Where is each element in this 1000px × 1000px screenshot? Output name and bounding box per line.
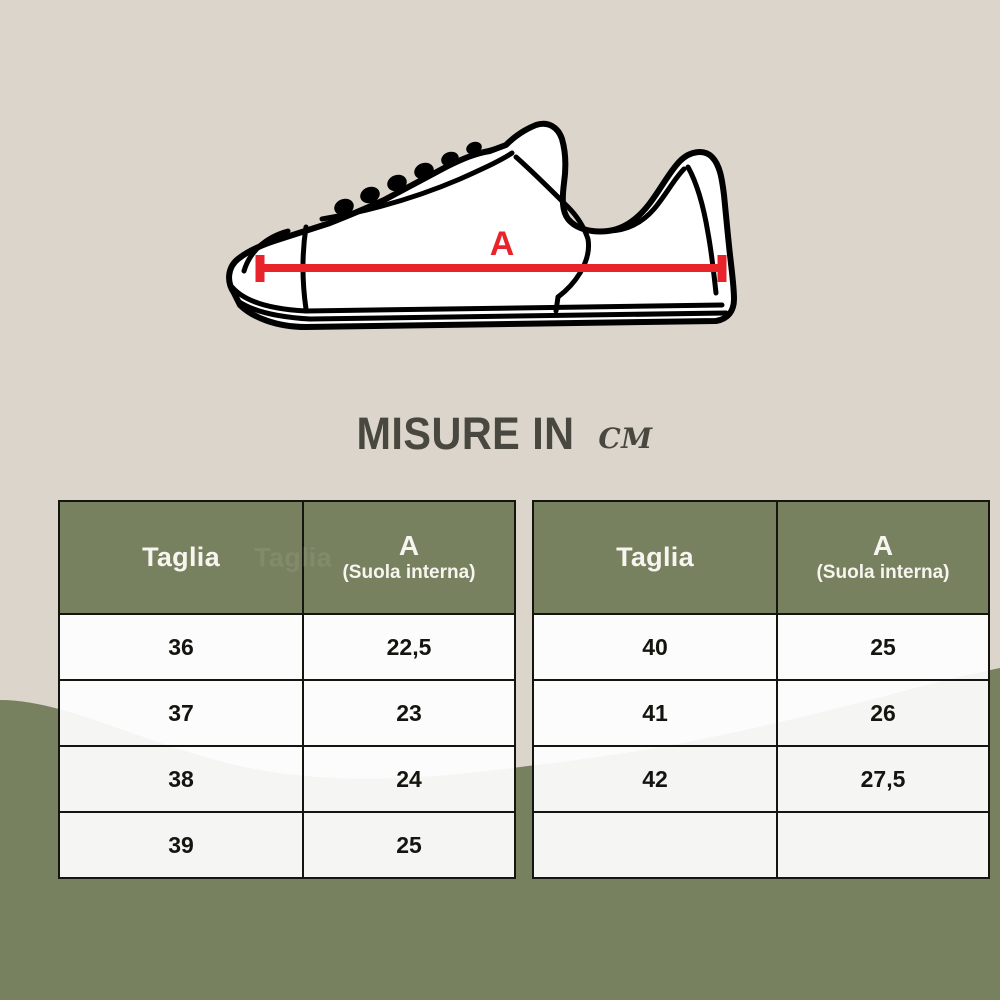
cell-size: 40 xyxy=(533,614,777,680)
header-measure-label: A xyxy=(304,531,514,560)
header-measure-sublabel: (Suola interna) xyxy=(778,563,988,584)
cell-measure: 26 xyxy=(777,680,989,746)
cell-size: 39 xyxy=(59,812,303,878)
header-cell-size: Taglia xyxy=(533,501,777,614)
cell-size: 42 xyxy=(533,746,777,812)
header-measure-label: A xyxy=(778,531,988,560)
measurement-label-a: A xyxy=(490,225,515,263)
size-table-right: Taglia A (Suola interna) 40 25 41 26 xyxy=(532,500,990,879)
table-header-row: Taglia A (Suola interna) xyxy=(533,501,989,614)
size-chart-canvas: A MISURE INcm Taglia Taglia A (Suola int… xyxy=(0,0,1000,1000)
cell-size: 36 xyxy=(59,614,303,680)
cell-measure: 24 xyxy=(303,746,515,812)
size-table-right-head: Taglia A (Suola interna) xyxy=(533,501,989,614)
header-size-label: Taglia xyxy=(142,542,220,572)
size-table-left-body: 36 22,5 37 23 38 24 39 25 xyxy=(59,614,515,878)
cell-measure: 27,5 xyxy=(777,746,989,812)
cell-measure: 22,5 xyxy=(303,614,515,680)
cell-size: 41 xyxy=(533,680,777,746)
page-title: MISURE INcm xyxy=(0,408,1000,460)
cell-measure: 25 xyxy=(303,812,515,878)
size-table-left: Taglia Taglia A (Suola interna) 36 22,5 … xyxy=(58,500,516,879)
table-header-row: Taglia Taglia A (Suola interna) xyxy=(59,501,515,614)
size-table-left-head: Taglia Taglia A (Suola interna) xyxy=(59,501,515,614)
cell-size: 38 xyxy=(59,746,303,812)
header-measure-sublabel: (Suola interna) xyxy=(304,563,514,584)
table-row: 41 26 xyxy=(533,680,989,746)
table-row: 42 27,5 xyxy=(533,746,989,812)
table-row: 39 25 xyxy=(59,812,515,878)
table-row: 40 25 xyxy=(533,614,989,680)
cell-size-empty xyxy=(533,812,777,878)
cell-measure-empty xyxy=(777,812,989,878)
header-cell-measure: A (Suola interna) xyxy=(777,501,989,614)
table-row xyxy=(533,812,989,878)
size-tables-container: Taglia Taglia A (Suola interna) 36 22,5 … xyxy=(58,500,990,879)
table-row: 38 24 xyxy=(59,746,515,812)
cell-measure: 25 xyxy=(777,614,989,680)
header-size-label: Taglia xyxy=(616,542,694,572)
header-cell-size: Taglia Taglia xyxy=(59,501,303,614)
title-unit-text: cm xyxy=(598,411,652,458)
table-row: 37 23 xyxy=(59,680,515,746)
title-main-text: MISURE IN xyxy=(357,408,575,460)
table-row: 36 22,5 xyxy=(59,614,515,680)
cell-size: 37 xyxy=(59,680,303,746)
cell-measure: 23 xyxy=(303,680,515,746)
size-table-right-body: 40 25 41 26 42 27,5 xyxy=(533,614,989,878)
sneaker-illustration: A xyxy=(210,95,770,355)
header-cell-measure: A (Suola interna) xyxy=(303,501,515,614)
